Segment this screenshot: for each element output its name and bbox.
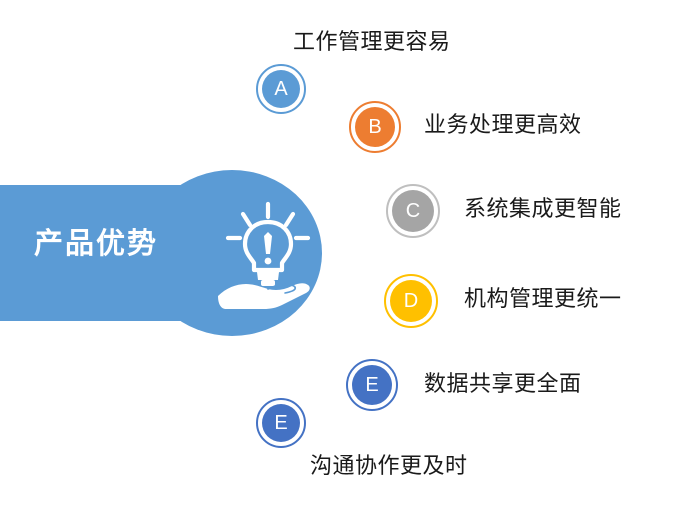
badge-e-data-sharing-disc: E <box>352 365 392 405</box>
badge-b[interactable]: B <box>349 101 401 153</box>
label-business-processing: 业务处理更高效 <box>424 114 582 136</box>
banner-title: 产品优势 <box>34 230 214 259</box>
product-advantage-banner: 产品优势 <box>0 170 322 336</box>
label-system-integration: 系统集成更智能 <box>464 198 622 220</box>
badge-d-letter: D <box>404 291 418 311</box>
badge-b-disc: B <box>355 107 395 147</box>
label-organization-management: 机构管理更统一 <box>464 288 622 310</box>
diagram-canvas: 产品优势 <box>0 0 673 515</box>
label-data-sharing: 数据共享更全面 <box>424 373 582 395</box>
badge-e-communication[interactable]: E <box>256 398 306 448</box>
badge-e-data-sharing-letter: E <box>365 375 378 395</box>
badge-a-letter: A <box>274 79 287 99</box>
badge-e-data-sharing[interactable]: E <box>346 359 398 411</box>
label-communication-collaboration: 沟通协作更及时 <box>310 455 468 477</box>
badge-a-disc: A <box>262 70 300 108</box>
badge-a[interactable]: A <box>256 64 306 114</box>
badge-e-communication-letter: E <box>274 413 287 433</box>
badge-e-communication-disc: E <box>262 404 300 442</box>
badge-d[interactable]: D <box>384 274 438 328</box>
lightbulb-in-hand-icon <box>216 200 320 310</box>
badge-c-disc: C <box>392 190 434 232</box>
label-work-management: 工作管理更容易 <box>293 31 451 53</box>
badge-b-letter: B <box>368 117 381 137</box>
badge-c-letter: C <box>406 201 420 221</box>
badge-c[interactable]: C <box>386 184 440 238</box>
badge-d-disc: D <box>390 280 432 322</box>
